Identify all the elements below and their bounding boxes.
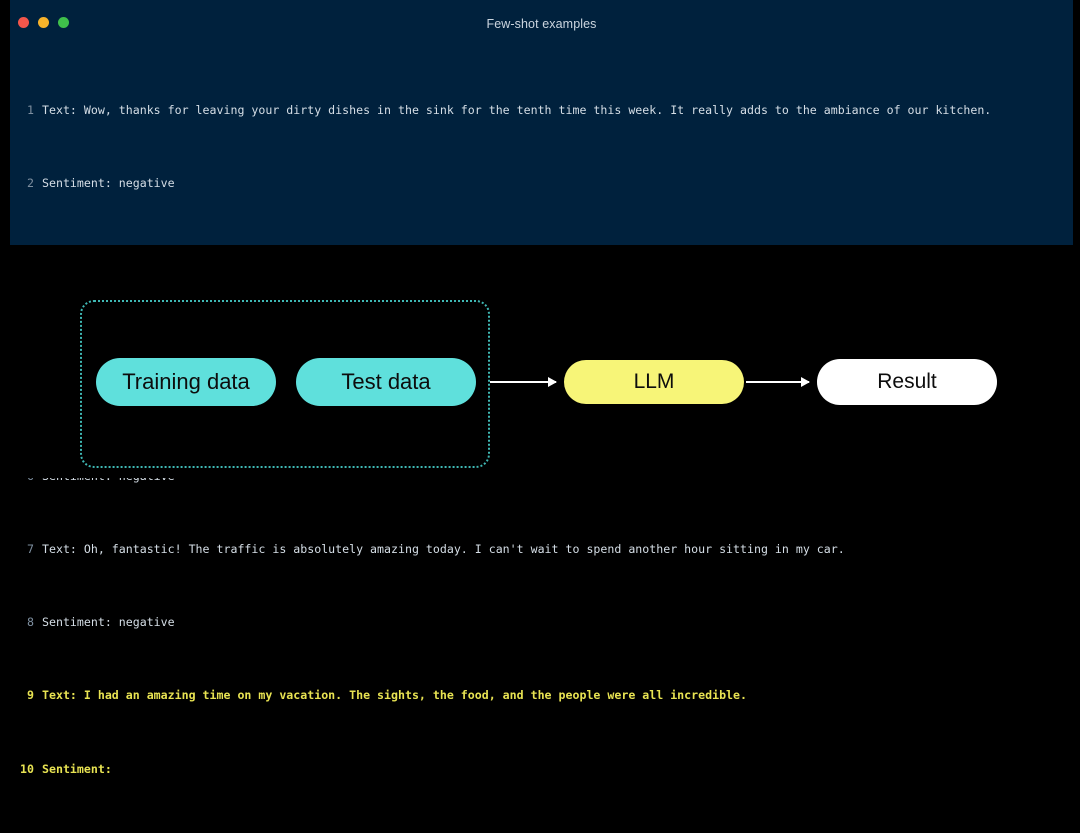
line-number: 1 [10,101,42,119]
flow-diagram: Training data Test data LLM Result [0,245,1080,478]
node-training-data[interactable]: Training data [96,358,276,406]
line-number: 2 [10,174,42,192]
node-llm[interactable]: LLM [564,360,744,404]
code-line: 8 Sentiment: negative [10,613,1073,631]
line-content: Text: Oh, fantastic! The traffic is abso… [42,540,845,558]
line-content: Sentiment: [42,760,112,778]
node-training-data-label: Training data [122,369,250,395]
terminal-window: Few-shot examples 1 Text: Wow, thanks fo… [10,0,1073,245]
code-line: 7 Text: Oh, fantastic! The traffic is ab… [10,540,1073,558]
line-content: Text: Wow, thanks for leaving your dirty… [42,101,991,119]
code-line-highlighted: 9 Text: I had an amazing time on my vaca… [10,686,1073,704]
code-line-highlighted: 10 Sentiment: [10,760,1073,778]
line-number: 10 [10,760,42,778]
arrow-llm-to-result-icon [746,381,809,383]
line-content: Text: I had an amazing time on my vacati… [42,686,747,704]
arrow-data-to-llm-icon [490,381,556,383]
line-content: Sentiment: negative [42,613,175,631]
node-result[interactable]: Result [817,359,997,405]
window-title: Few-shot examples [10,17,1073,31]
line-number: 9 [10,686,42,704]
line-number: 7 [10,540,42,558]
code-line: 2 Sentiment: negative [10,174,1073,192]
terminal-titlebar: Few-shot examples [10,0,1073,44]
node-test-data[interactable]: Test data [296,358,476,406]
node-test-data-label: Test data [341,369,430,395]
line-content: Sentiment: negative [42,174,175,192]
code-listing: 1 Text: Wow, thanks for leaving your dir… [10,46,1073,245]
node-llm-label: LLM [634,370,675,394]
line-number: 8 [10,613,42,631]
node-result-label: Result [877,370,937,394]
code-line: 1 Text: Wow, thanks for leaving your dir… [10,101,1073,119]
